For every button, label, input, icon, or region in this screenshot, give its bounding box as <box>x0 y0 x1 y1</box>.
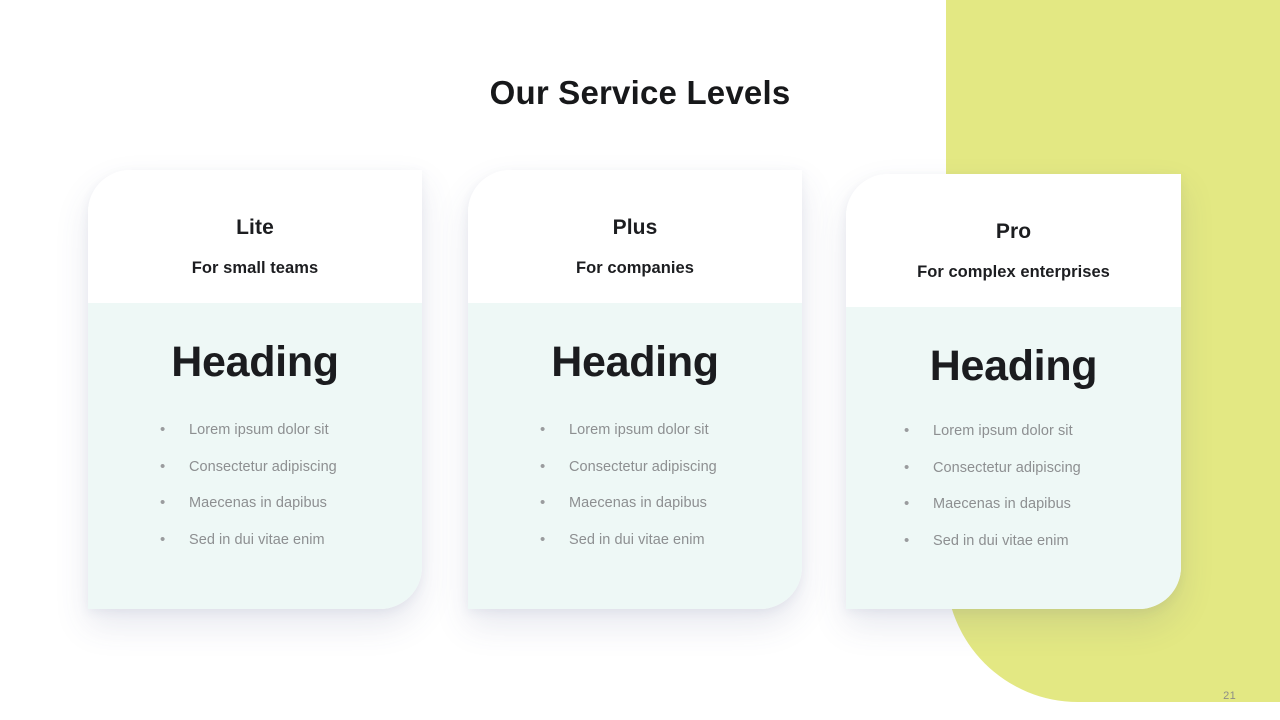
bullet-dot-icon: • <box>540 532 569 547</box>
feature-label: Maecenas in dapibus <box>189 496 327 511</box>
list-item: • Consectetur adipiscing <box>540 459 802 475</box>
pricing-card-header: Lite For small teams <box>88 170 422 303</box>
pricing-card-lite[interactable]: Lite For small teams Heading • Lorem ips… <box>88 170 422 609</box>
pricing-card-body: Heading • Lorem ipsum dolor sit • Consec… <box>88 303 422 609</box>
feature-label: Maecenas in dapibus <box>933 497 1071 512</box>
pricing-card-plus[interactable]: Plus For companies Heading • Lorem ipsum… <box>468 170 802 609</box>
feature-label: Lorem ipsum dolor sit <box>933 424 1073 439</box>
bullet-dot-icon: • <box>160 422 189 437</box>
bullet-dot-icon: • <box>904 460 933 475</box>
list-item: • Consectetur adipiscing <box>904 460 1181 476</box>
bullet-dot-icon: • <box>540 495 569 510</box>
feature-label: Maecenas in dapibus <box>569 496 707 511</box>
card-heading: Heading <box>551 341 719 384</box>
list-item: • Sed in dui vitae enim <box>160 532 422 548</box>
page-title: Our Service Levels <box>0 74 1280 112</box>
plan-tagline: For companies <box>576 259 694 277</box>
pricing-card-body: Heading • Lorem ipsum dolor sit • Consec… <box>468 303 802 609</box>
bullet-dot-icon: • <box>904 496 933 511</box>
feature-label: Sed in dui vitae enim <box>189 533 325 548</box>
feature-label: Lorem ipsum dolor sit <box>189 423 329 438</box>
feature-label: Consectetur adipiscing <box>933 461 1081 476</box>
feature-label: Consectetur adipiscing <box>569 460 717 475</box>
list-item: • Sed in dui vitae enim <box>904 533 1181 549</box>
list-item: • Maecenas in dapibus <box>904 496 1181 512</box>
list-item: • Lorem ipsum dolor sit <box>904 423 1181 439</box>
plan-name: Pro <box>996 220 1031 243</box>
feature-list: • Lorem ipsum dolor sit • Consectetur ad… <box>846 423 1181 569</box>
card-heading: Heading <box>930 345 1098 388</box>
slide-canvas: Our Service Levels Lite For small teams … <box>0 0 1280 720</box>
feature-list: • Lorem ipsum dolor sit • Consectetur ad… <box>88 422 422 568</box>
list-item: • Sed in dui vitae enim <box>540 532 802 548</box>
plan-tagline: For complex enterprises <box>917 263 1110 281</box>
page-number: 21 <box>1223 690 1236 702</box>
list-item: • Maecenas in dapibus <box>160 495 422 511</box>
card-heading: Heading <box>171 341 339 384</box>
list-item: • Lorem ipsum dolor sit <box>160 422 422 438</box>
bullet-dot-icon: • <box>160 459 189 474</box>
list-item: • Lorem ipsum dolor sit <box>540 422 802 438</box>
bullet-dot-icon: • <box>160 495 189 510</box>
bullet-dot-icon: • <box>160 532 189 547</box>
feature-label: Consectetur adipiscing <box>189 460 337 475</box>
bullet-dot-icon: • <box>904 533 933 548</box>
plan-name: Plus <box>613 216 658 239</box>
bullet-dot-icon: • <box>904 423 933 438</box>
feature-label: Sed in dui vitae enim <box>933 534 1069 549</box>
plan-name: Lite <box>236 216 274 239</box>
list-item: • Consectetur adipiscing <box>160 459 422 475</box>
list-item: • Maecenas in dapibus <box>540 495 802 511</box>
pricing-card-header: Pro For complex enterprises <box>846 174 1181 307</box>
plan-tagline: For small teams <box>192 259 318 277</box>
bullet-dot-icon: • <box>540 459 569 474</box>
pricing-card-pro[interactable]: Pro For complex enterprises Heading • Lo… <box>846 174 1181 609</box>
pricing-card-header: Plus For companies <box>468 170 802 303</box>
pricing-card-body: Heading • Lorem ipsum dolor sit • Consec… <box>846 307 1181 609</box>
bullet-dot-icon: • <box>540 422 569 437</box>
feature-list: • Lorem ipsum dolor sit • Consectetur ad… <box>468 422 802 568</box>
feature-label: Lorem ipsum dolor sit <box>569 423 709 438</box>
feature-label: Sed in dui vitae enim <box>569 533 705 548</box>
